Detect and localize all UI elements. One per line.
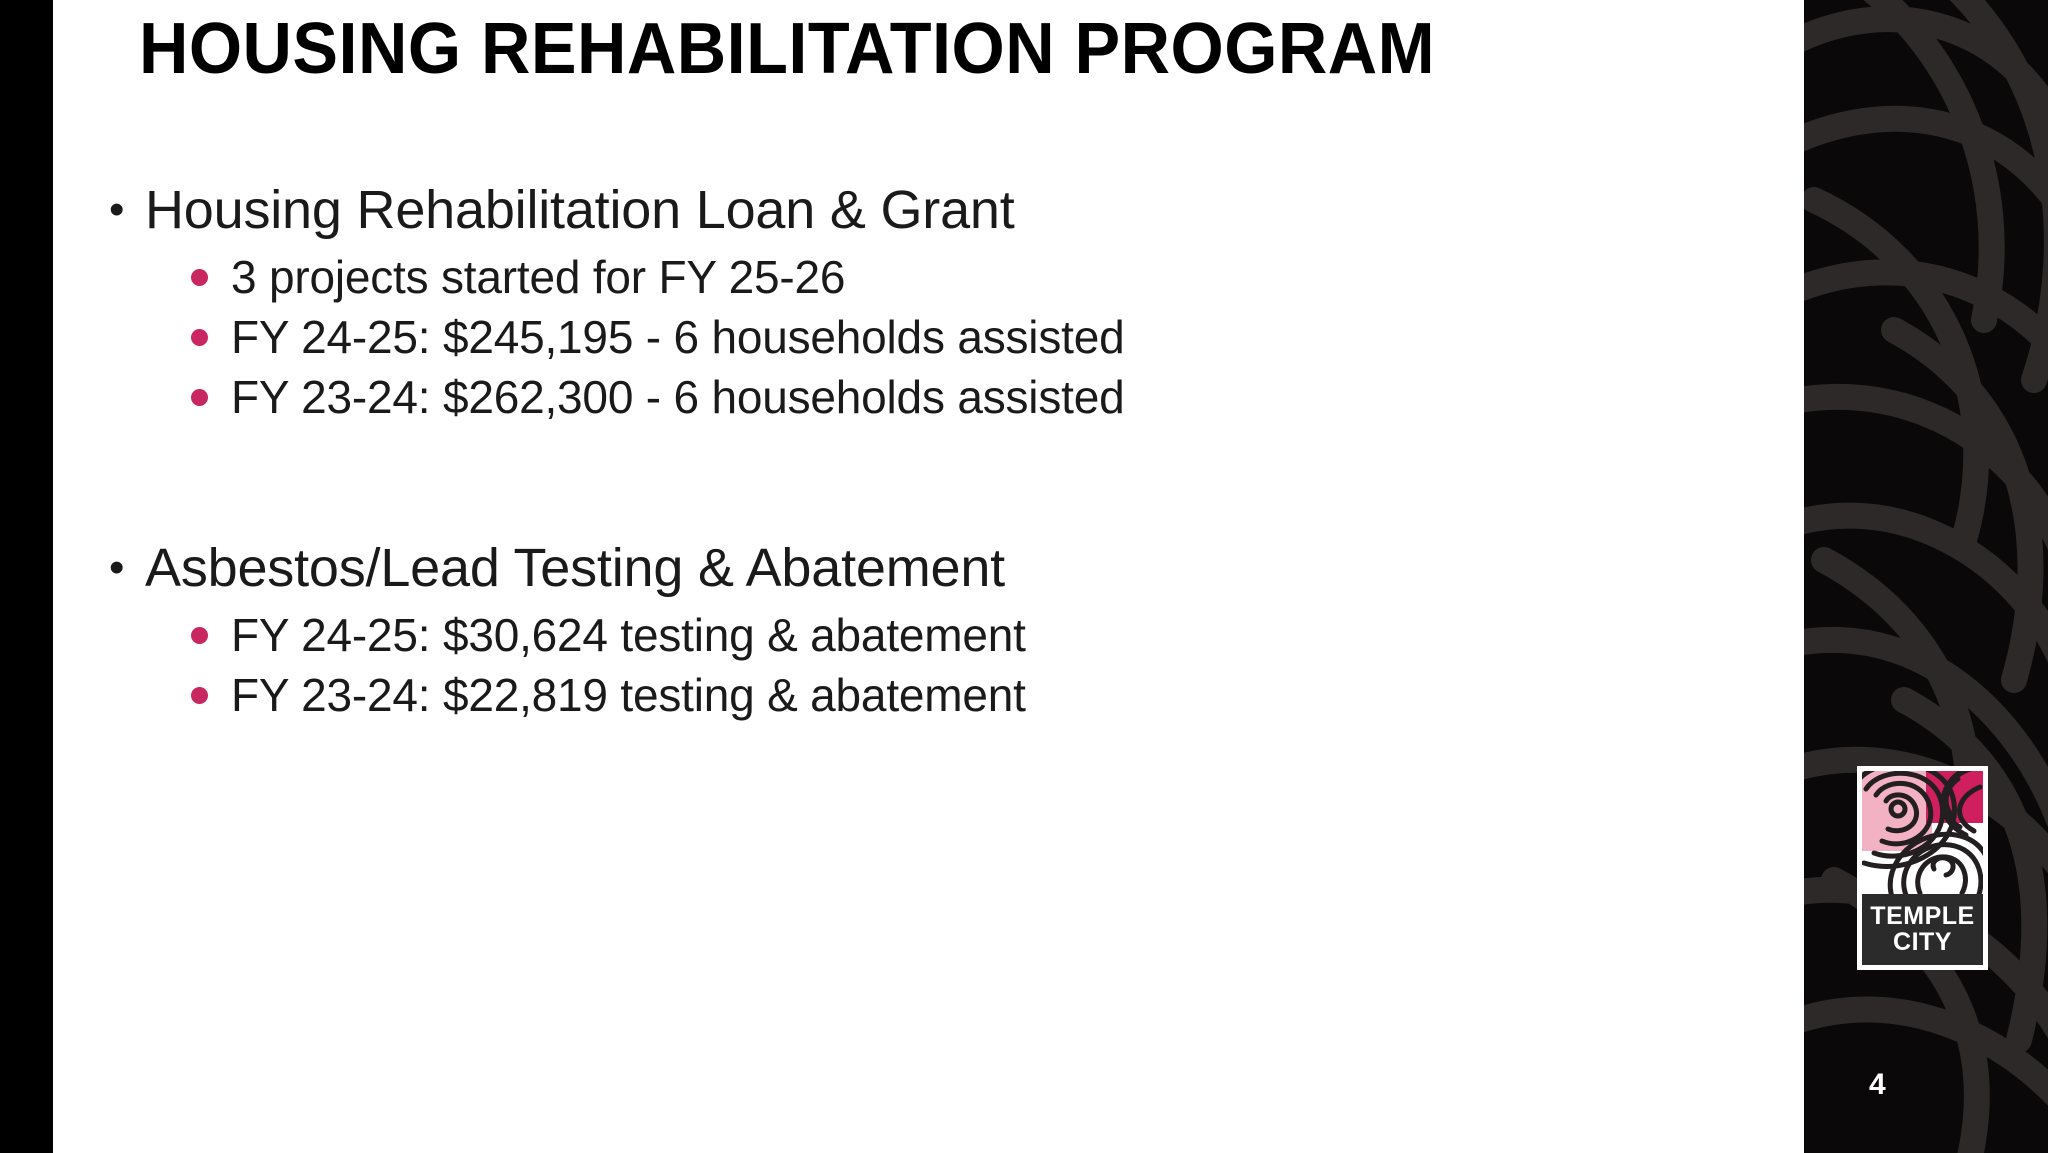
bullet-level2: 3 projects started for FY 25-26 bbox=[53, 248, 1804, 306]
bullet-level1: • Housing Rehabilitation Loan & Grant bbox=[53, 178, 1804, 242]
page-number: 4 bbox=[1869, 1068, 1886, 1102]
logo-line-1: TEMPLE bbox=[1870, 904, 1974, 930]
bullet-level2: FY 24-25: $30,624 testing & abatement bbox=[53, 606, 1804, 664]
logo-line-2: CITY bbox=[1893, 930, 1952, 956]
bullet-list: • Housing Rehabilitation Loan & Grant 3 … bbox=[53, 178, 1804, 726]
page-title: HOUSING REHABILITATION PROGRAM bbox=[139, 10, 1435, 89]
bullet-dot-icon bbox=[191, 666, 231, 724]
bullet-dot-icon bbox=[191, 606, 231, 664]
logo-wordmark: TEMPLE CITY bbox=[1862, 894, 1983, 965]
bullet-dot-icon bbox=[191, 308, 231, 366]
group-spacer bbox=[53, 428, 1804, 536]
bullet-dot-icon bbox=[191, 248, 231, 306]
bullet-level1-label: Housing Rehabilitation Loan & Grant bbox=[145, 178, 1015, 242]
bullet-marker-icon: • bbox=[103, 536, 145, 600]
logo-inner: TEMPLE CITY bbox=[1862, 771, 1983, 965]
bullet-level2-label: FY 23-24: $22,819 testing & abatement bbox=[231, 666, 1026, 724]
bullet-level2-label: 3 projects started for FY 25-26 bbox=[231, 248, 845, 306]
bullet-level1-label: Asbestos/Lead Testing & Abatement bbox=[145, 536, 1005, 600]
bullet-level1: • Asbestos/Lead Testing & Abatement bbox=[53, 536, 1804, 600]
slide: HOUSING REHABILITATION PROGRAM • Housing… bbox=[0, 0, 2048, 1153]
decorative-rose-panel bbox=[1804, 0, 2048, 1153]
logo-rose-art-icon bbox=[1862, 771, 1983, 894]
bullet-level2: FY 23-24: $22,819 testing & abatement bbox=[53, 666, 1804, 724]
temple-city-logo: TEMPLE CITY bbox=[1857, 766, 1988, 970]
slide-canvas: HOUSING REHABILITATION PROGRAM • Housing… bbox=[53, 0, 1804, 1153]
left-gutter bbox=[0, 0, 53, 1153]
bullet-level2-label: FY 24-25: $30,624 testing & abatement bbox=[231, 606, 1026, 664]
bullet-marker-icon: • bbox=[103, 178, 145, 242]
bullet-level2: FY 24-25: $245,195 - 6 households assist… bbox=[53, 308, 1804, 366]
bullet-dot-icon bbox=[191, 368, 231, 426]
bullet-level2: FY 23-24: $262,300 - 6 households assist… bbox=[53, 368, 1804, 426]
bullet-level2-label: FY 24-25: $245,195 - 6 households assist… bbox=[231, 308, 1124, 366]
bullet-level2-label: FY 23-24: $262,300 - 6 households assist… bbox=[231, 368, 1124, 426]
rose-pattern-icon bbox=[1804, 0, 2048, 1153]
